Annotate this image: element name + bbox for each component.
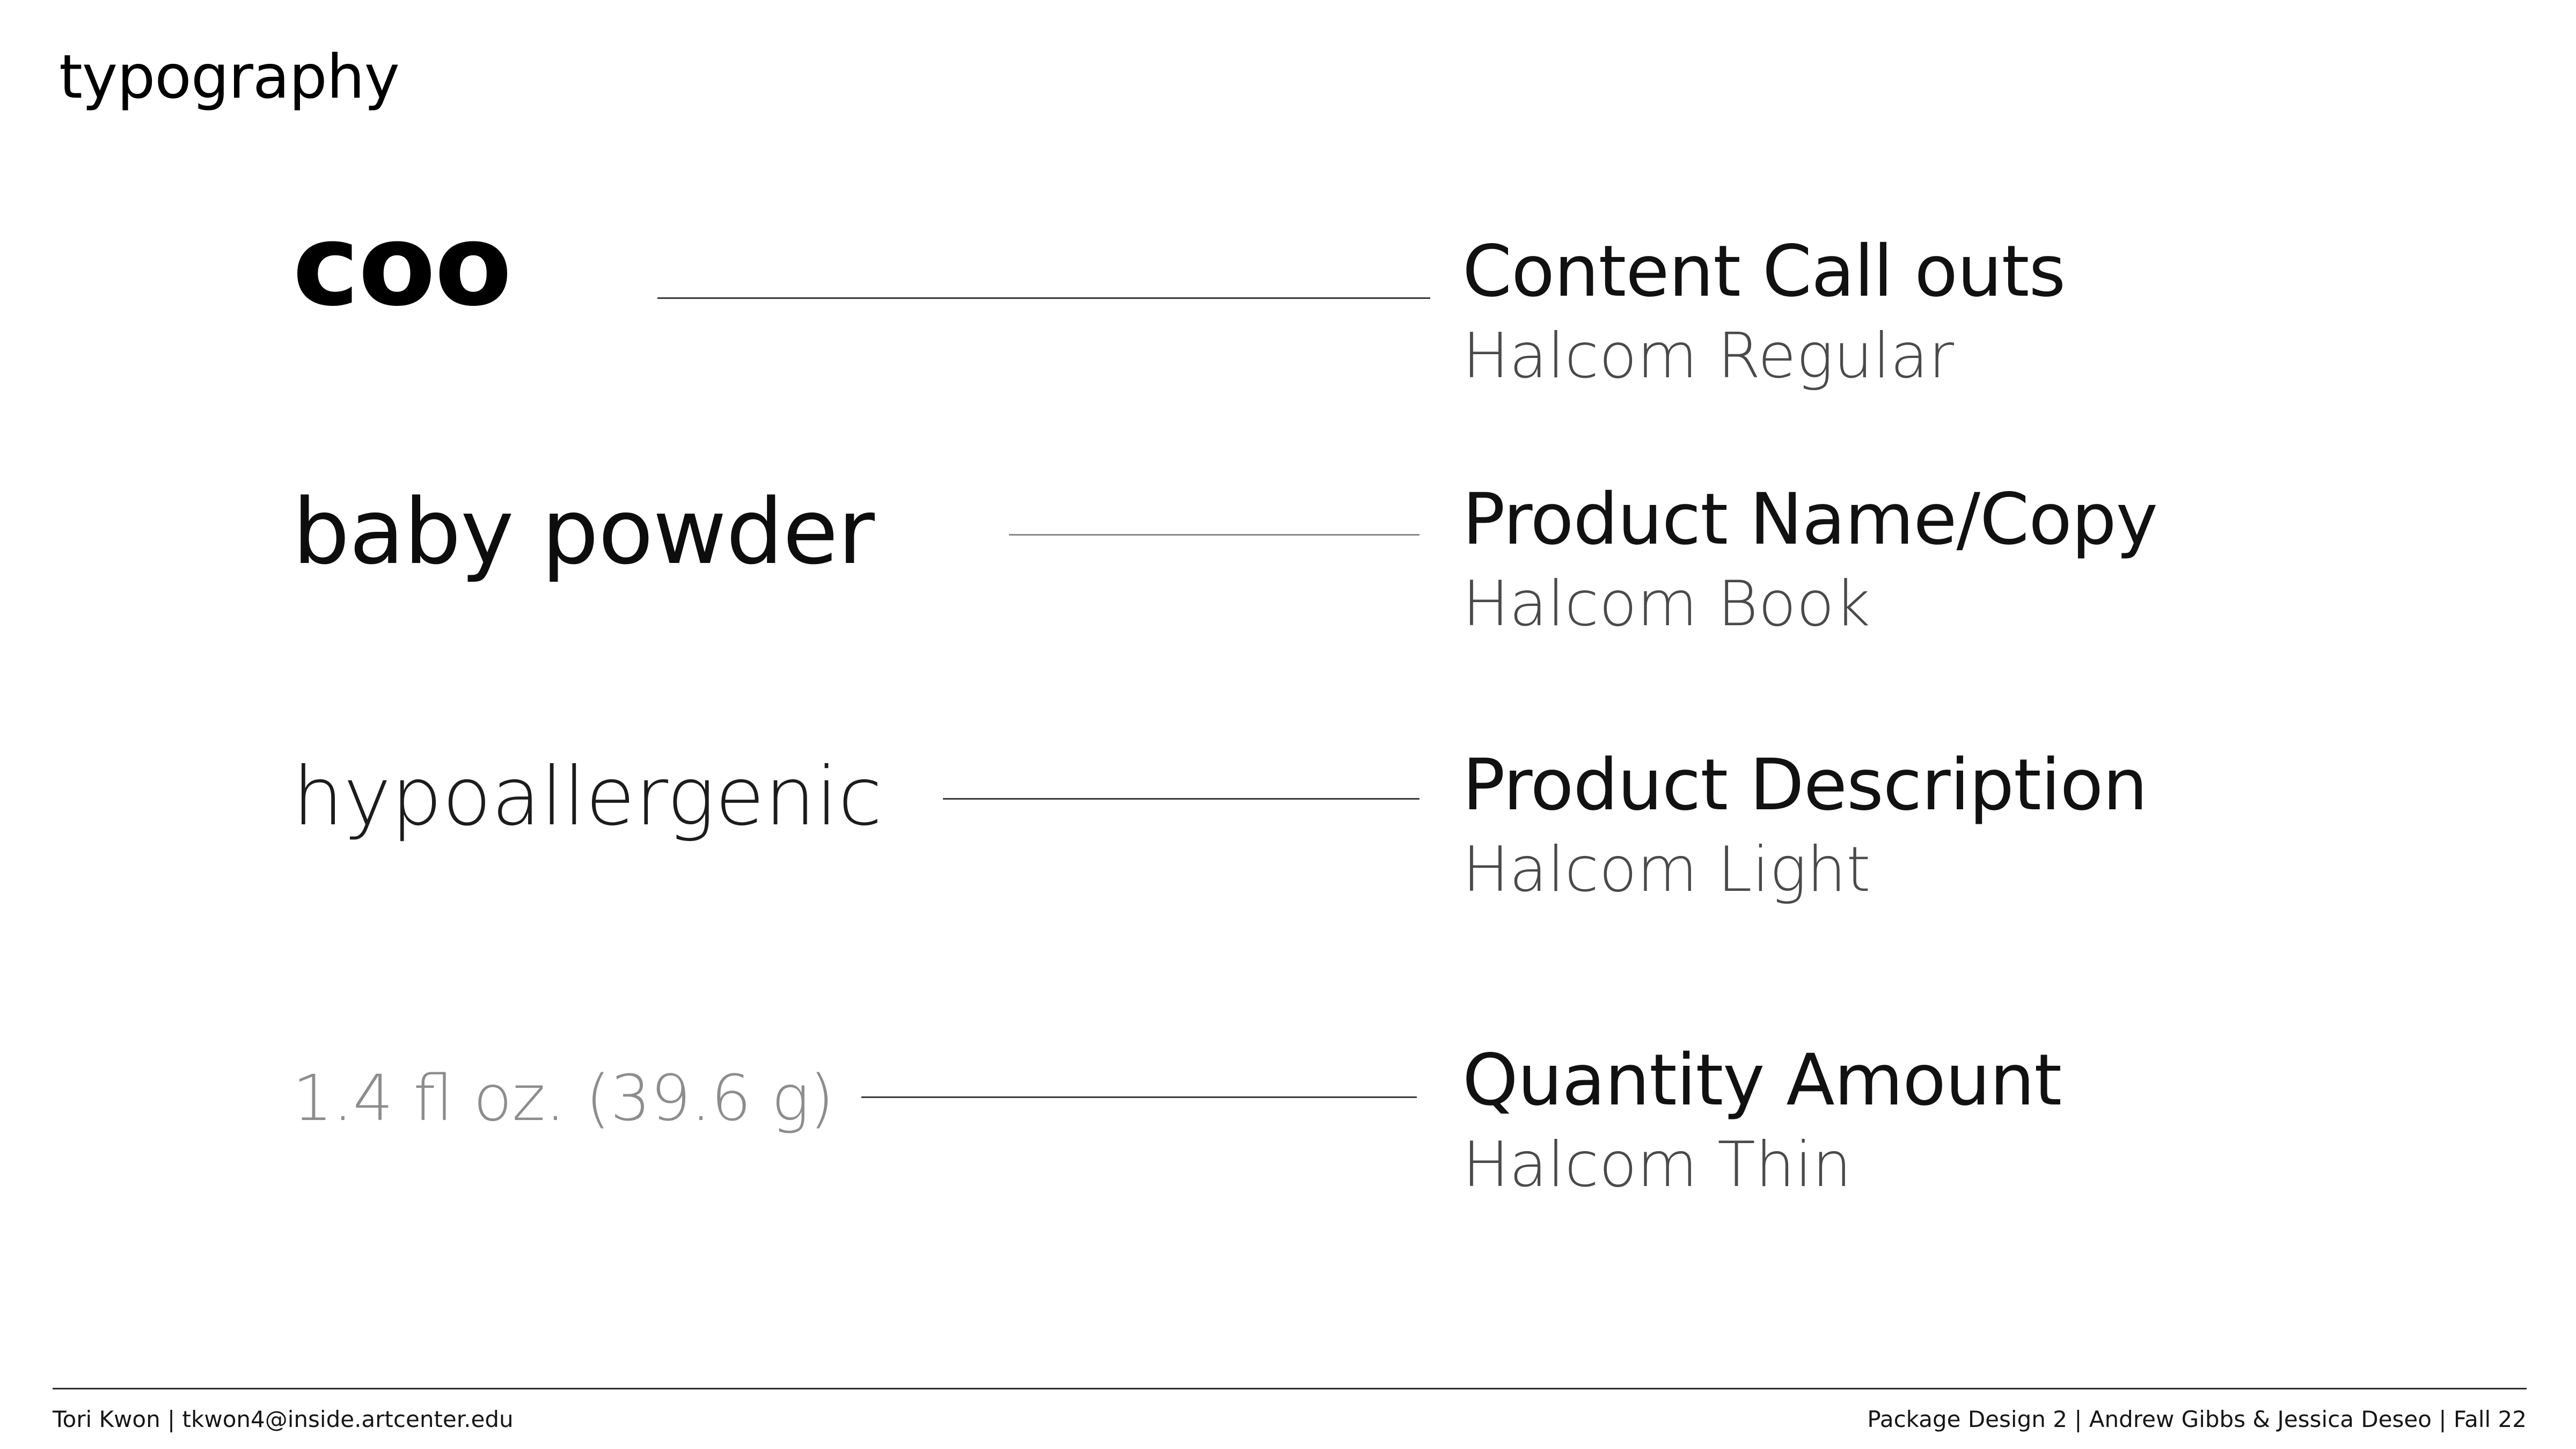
type-sample-hypoallergenic: hypoallergenic xyxy=(292,757,882,837)
type-weight-label: Halcom Book xyxy=(1462,573,2157,635)
typography-slide: typography coo Content Call outs Halcom … xyxy=(0,0,2576,1449)
connector-line xyxy=(657,297,1430,299)
type-role-label: Content Call outs xyxy=(1462,236,2065,307)
type-weight-label: Halcom Thin xyxy=(1462,1134,2061,1196)
footer-author-credit: Tori Kwon | tkwon4@inside.artcenter.edu xyxy=(53,1406,514,1432)
connector-line xyxy=(943,798,1419,800)
type-weight-label: Halcom Regular xyxy=(1462,325,2065,387)
type-role-block: Product Description Halcom Light xyxy=(1462,750,2147,901)
type-role-block: Content Call outs Halcom Regular xyxy=(1462,236,2065,387)
type-role-label: Product Description xyxy=(1462,750,2147,821)
type-sample-coo: coo xyxy=(292,209,511,322)
type-role-label: Quantity Amount xyxy=(1462,1045,2061,1116)
type-weight-label: Halcom Light xyxy=(1462,839,2147,901)
type-scale-list: coo Content Call outs Halcom Regular bab… xyxy=(0,0,2576,1449)
type-role-block: Product Name/Copy Halcom Book xyxy=(1462,484,2157,635)
footer-divider xyxy=(53,1388,2527,1389)
type-sample-quantity: 1.4 fl oz. (39.6 g) xyxy=(292,1066,834,1130)
footer-course-credit: Package Design 2 | Andrew Gibbs & Jessic… xyxy=(1867,1406,2527,1432)
connector-line xyxy=(861,1096,1417,1098)
type-sample-baby-powder: baby powder xyxy=(292,487,874,577)
connector-line xyxy=(1009,534,1419,536)
type-role-label: Product Name/Copy xyxy=(1462,484,2157,555)
footer: Tori Kwon | tkwon4@inside.artcenter.edu … xyxy=(53,1406,2527,1432)
type-role-block: Quantity Amount Halcom Thin xyxy=(1462,1045,2061,1196)
